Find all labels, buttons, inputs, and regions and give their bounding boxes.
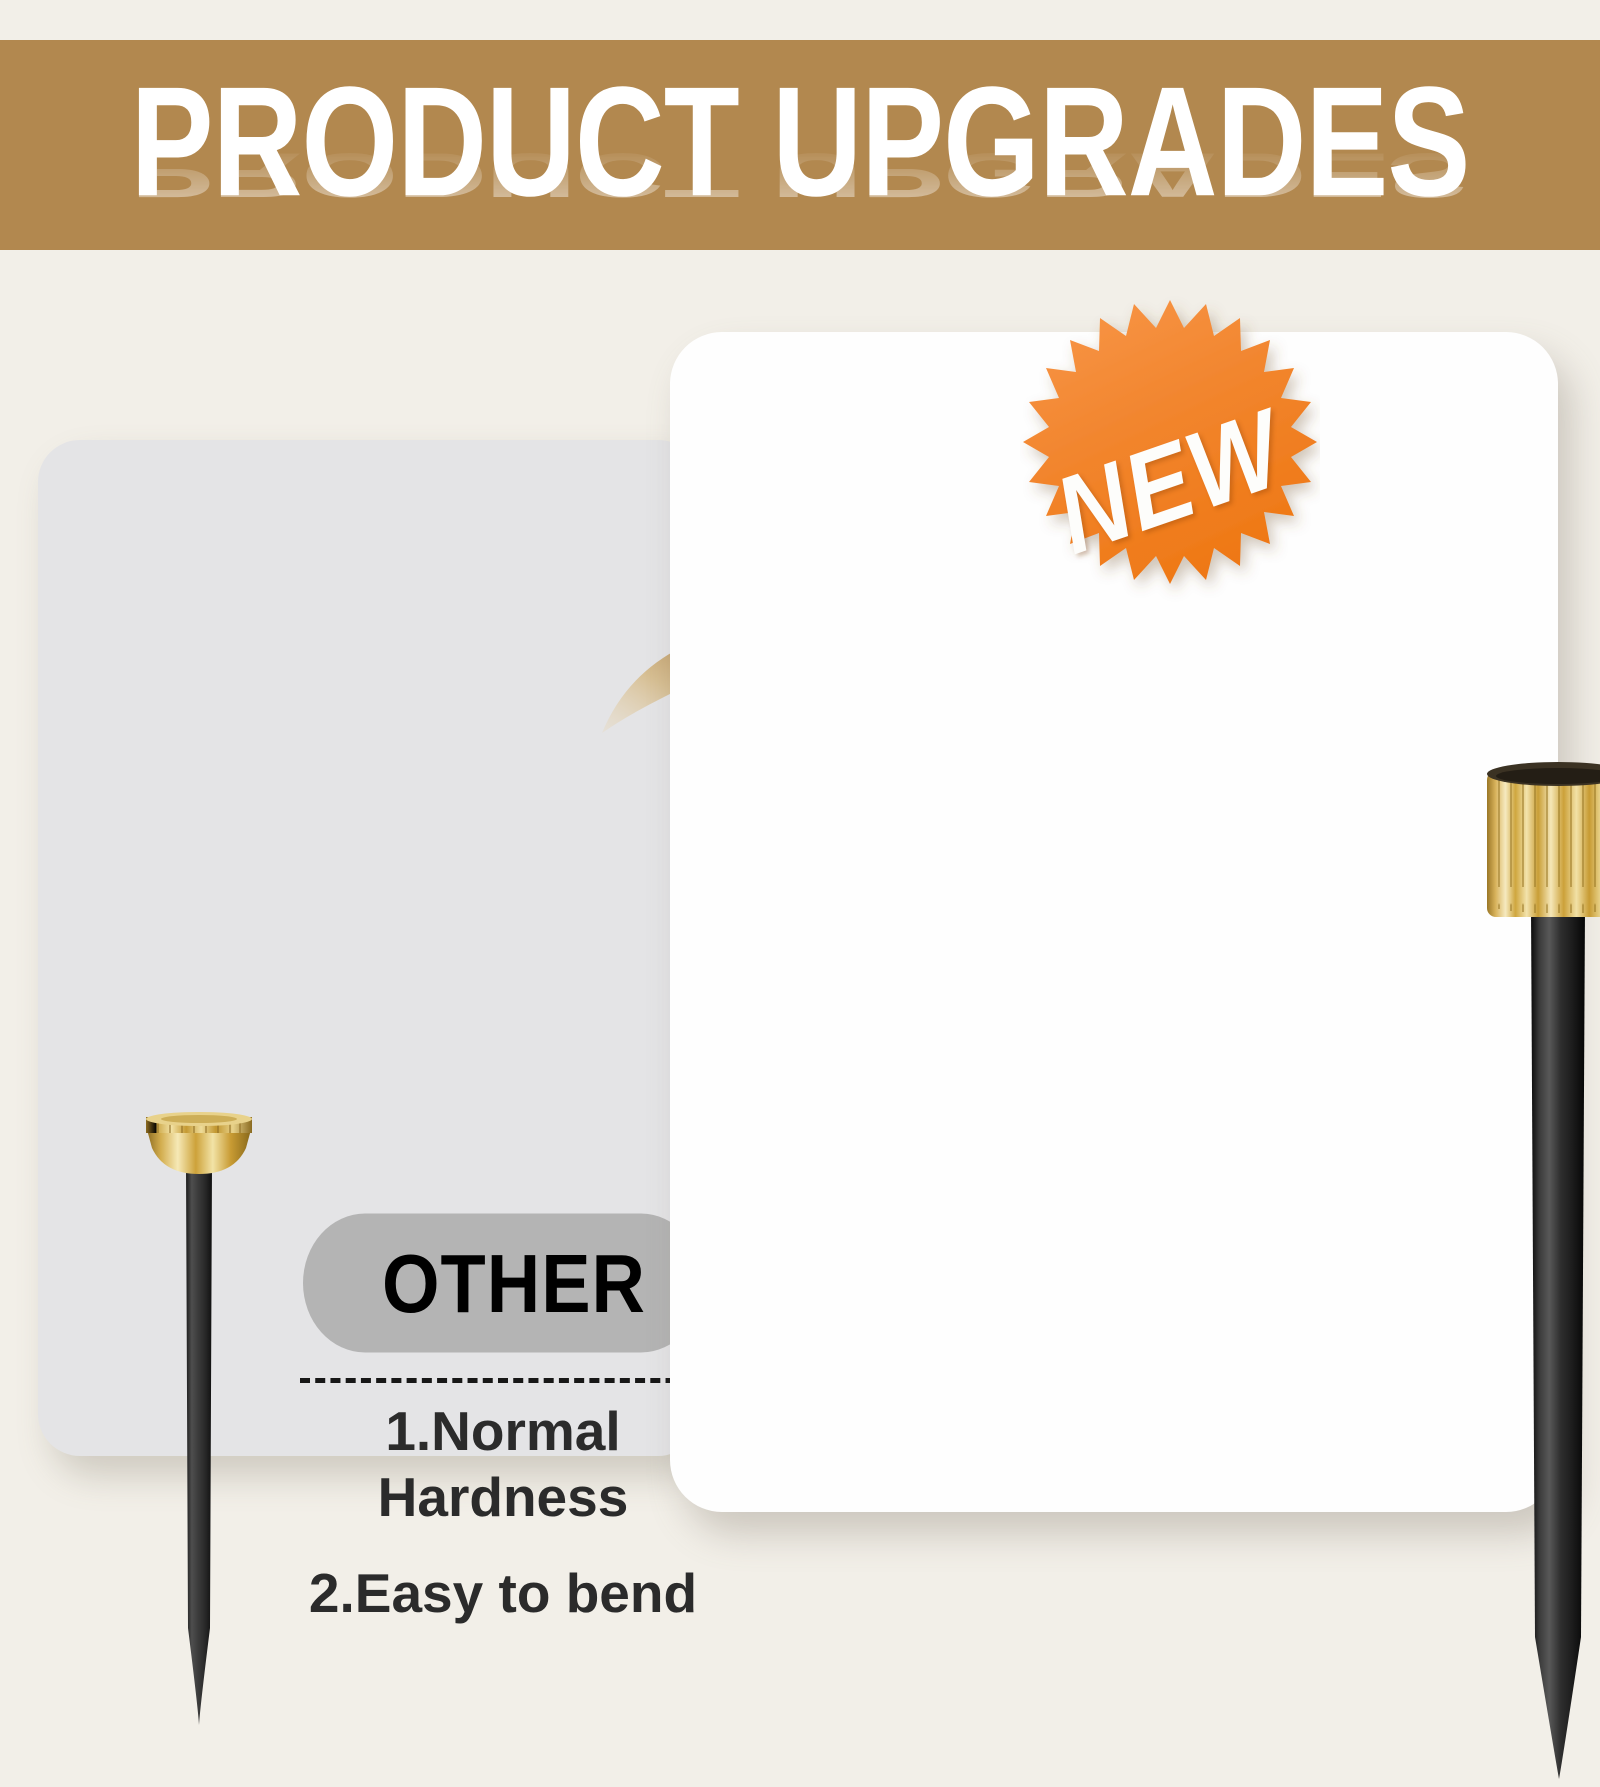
other-nail-image <box>134 1108 264 1733</box>
page-title: PRODUCT UPGRADES <box>0 66 1600 217</box>
new-badge: NEW <box>1020 292 1320 632</box>
other-feature-list: 1.Normal Hardness 2.Easy to bend <box>288 1398 718 1656</box>
other-feature-item: 1.Normal Hardness <box>288 1398 718 1530</box>
our-nail-image <box>1475 757 1600 1787</box>
other-feature-item: 2.Easy to bend <box>288 1560 718 1626</box>
other-divider <box>300 1378 706 1383</box>
header-banner: PRODUCT UPGRADES PRODUCT UPGRADES <box>0 40 1600 250</box>
other-badge-label: OTHER <box>382 1235 646 1330</box>
other-badge: OTHER <box>303 1214 703 1353</box>
